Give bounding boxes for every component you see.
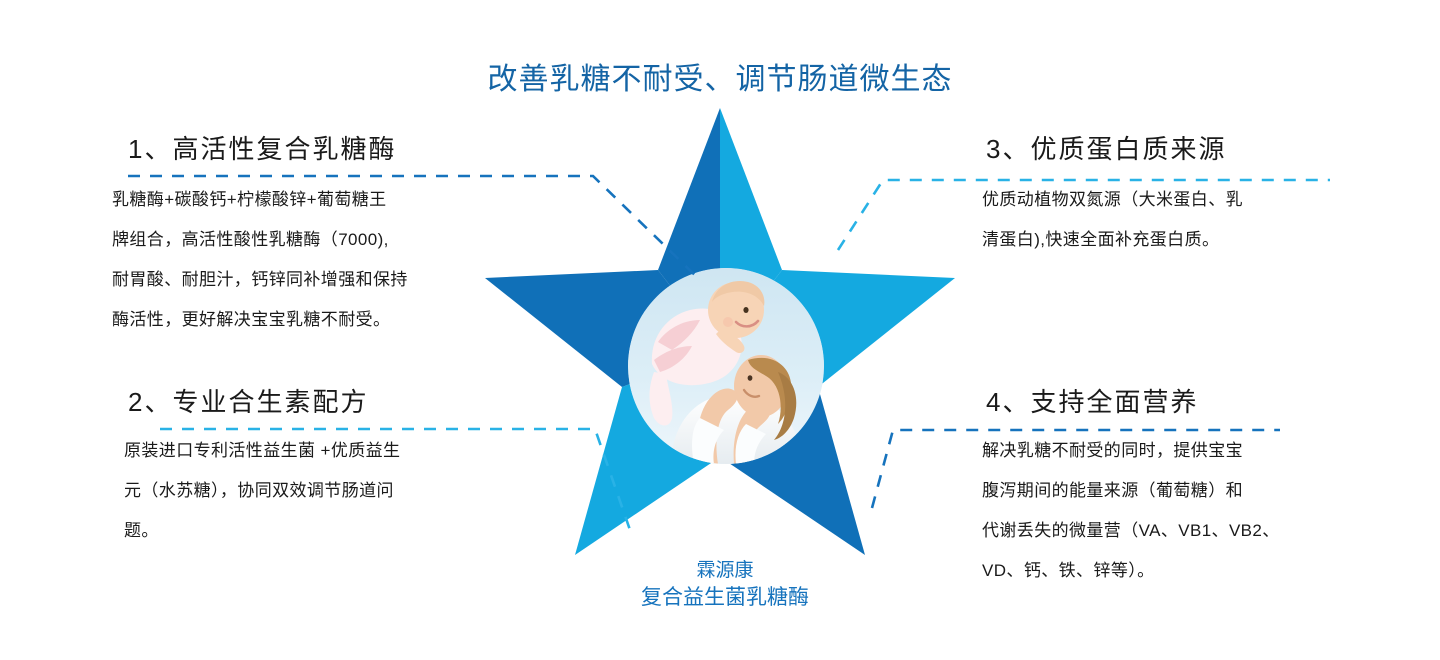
section-3-body: 优质动植物双氮源（大米蛋白、乳 清蛋白),快速全面补充蛋白质。 — [928, 180, 1348, 260]
section-2-body: 原装进口专利活性益生菌 +优质益生 元（水苏糖），协同双效调节肠道问 题。 — [112, 431, 512, 551]
section-1-line-1: 乳糖酶+碳酸钙+柠檬酸锌+葡萄糖王 — [112, 180, 512, 220]
section-1-body: 乳糖酶+碳酸钙+柠檬酸锌+葡萄糖王 牌组合，高活性酸性乳糖酶（7000), 耐胃… — [112, 180, 512, 340]
section-4-line-4: VD、钙、铁、锌等）。 — [982, 551, 1348, 591]
section-4: 4、支持全面营养 解决乳糖不耐受的同时，提供宝宝 腹泻期间的能量来源（葡萄糖）和… — [928, 385, 1348, 591]
section-3-line-2: 清蛋白),快速全面补充蛋白质。 — [982, 220, 1348, 260]
section-4-line-3: 代谢丢失的微量营（VA、VB1、VB2、 — [982, 511, 1348, 551]
section-4-line-1: 解决乳糖不耐受的同时，提供宝宝 — [982, 431, 1348, 471]
section-1-heading: 1、高活性复合乳糖酶 — [112, 132, 512, 166]
section-2: 2、专业合生素配方 原装进口专利活性益生菌 +优质益生 元（水苏糖），协同双效调… — [112, 385, 512, 551]
infographic-root: 改善乳糖不耐受、调节肠道微生态 — [0, 0, 1440, 660]
section-3-line-1: 优质动植物双氮源（大米蛋白、乳 — [982, 180, 1348, 220]
brand-line-1: 霖源康 — [575, 557, 875, 584]
section-3-heading: 3、优质蛋白质来源 — [928, 132, 1348, 166]
brand-caption: 霖源康 复合益生菌乳糖酶 — [575, 557, 875, 611]
section-4-heading: 4、支持全面营养 — [928, 385, 1348, 419]
brand-line-2: 复合益生菌乳糖酶 — [575, 584, 875, 611]
section-1-line-4: 酶活性，更好解决宝宝乳糖不耐受。 — [112, 300, 512, 340]
section-4-body: 解决乳糖不耐受的同时，提供宝宝 腹泻期间的能量来源（葡萄糖）和 代谢丢失的微量营… — [928, 431, 1348, 591]
page-title: 改善乳糖不耐受、调节肠道微生态 — [0, 60, 1440, 100]
section-2-line-1: 原装进口专利活性益生菌 +优质益生 — [124, 431, 512, 471]
center-photo-mother-and-baby — [628, 268, 824, 464]
section-1-line-2: 牌组合，高活性酸性乳糖酶（7000), — [112, 220, 512, 260]
section-3: 3、优质蛋白质来源 优质动植物双氮源（大米蛋白、乳 清蛋白),快速全面补充蛋白质… — [928, 132, 1348, 260]
section-2-heading: 2、专业合生素配方 — [112, 385, 512, 419]
section-2-line-2: 元（水苏糖），协同双效调节肠道问 — [124, 471, 512, 511]
section-4-line-2: 腹泻期间的能量来源（葡萄糖）和 — [982, 471, 1348, 511]
section-1-line-3: 耐胃酸、耐胆汁，钙锌同补增强和保持 — [112, 260, 512, 300]
section-2-line-3: 题。 — [124, 511, 512, 551]
section-1: 1、高活性复合乳糖酶 乳糖酶+碳酸钙+柠檬酸锌+葡萄糖王 牌组合，高活性酸性乳糖… — [112, 132, 512, 340]
